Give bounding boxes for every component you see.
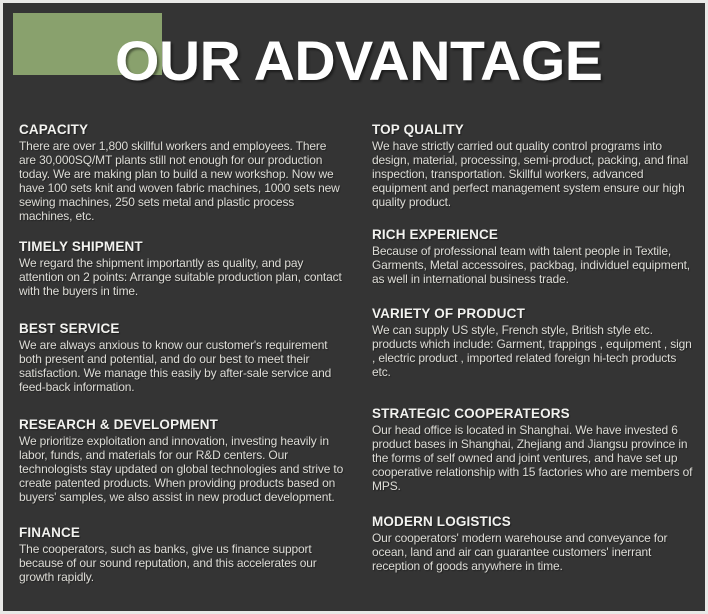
- section-body-research-development: We prioritize exploitation and innovatio…: [19, 434, 346, 504]
- section-body-strategic-cooperateors: Our head office is located in Shanghai. …: [372, 423, 697, 493]
- section-title-top-quality: TOP QUALITY: [372, 121, 697, 138]
- section-rich-experience: RICH EXPERIENCE Because of professional …: [372, 226, 697, 286]
- section-body-capacity: There are over 1,800 skillful workers an…: [19, 139, 346, 223]
- section-title-rich-experience: RICH EXPERIENCE: [372, 226, 697, 243]
- section-title-variety-of-product: VARIETY OF PRODUCT: [372, 305, 697, 322]
- section-variety-of-product: VARIETY OF PRODUCT We can supply US styl…: [372, 305, 697, 379]
- section-body-best-service: We are always anxious to know our custom…: [19, 338, 346, 394]
- advantage-poster: OUR ADVANTAGE CAPACITY There are over 1,…: [0, 0, 708, 614]
- section-capacity: CAPACITY There are over 1,800 skillful w…: [19, 121, 346, 223]
- section-body-modern-logistics: Our cooperators' modern warehouse and co…: [372, 531, 697, 573]
- section-body-rich-experience: Because of professional team with talent…: [372, 244, 697, 286]
- right-column: TOP QUALITY We have strictly carried out…: [354, 121, 705, 611]
- section-best-service: BEST SERVICE We are always anxious to kn…: [19, 320, 346, 394]
- content-columns: CAPACITY There are over 1,800 skillful w…: [3, 121, 705, 611]
- section-title-research-development: RESEARCH & DEVELOPMENT: [19, 416, 346, 433]
- section-top-quality: TOP QUALITY We have strictly carried out…: [372, 121, 697, 209]
- section-title-capacity: CAPACITY: [19, 121, 346, 138]
- section-title-timely-shipment: TIMELY SHIPMENT: [19, 238, 346, 255]
- section-body-top-quality: We have strictly carried out quality con…: [372, 139, 697, 209]
- section-research-development: RESEARCH & DEVELOPMENT We prioritize exp…: [19, 416, 346, 504]
- section-title-finance: FINANCE: [19, 524, 346, 541]
- section-title-modern-logistics: MODERN LOGISTICS: [372, 513, 697, 530]
- section-body-finance: The cooperators, such as banks, give us …: [19, 542, 346, 584]
- section-body-timely-shipment: We regard the shipment importantly as qu…: [19, 256, 346, 298]
- left-column: CAPACITY There are over 1,800 skillful w…: [3, 121, 354, 611]
- section-title-best-service: BEST SERVICE: [19, 320, 346, 337]
- poster-header: OUR ADVANTAGE: [3, 3, 705, 121]
- section-finance: FINANCE The cooperators, such as banks, …: [19, 524, 346, 584]
- section-strategic-cooperateors: STRATEGIC COOPERATEORS Our head office i…: [372, 405, 697, 493]
- section-modern-logistics: MODERN LOGISTICS Our cooperators' modern…: [372, 513, 697, 573]
- section-body-variety-of-product: We can supply US style, French style, Br…: [372, 323, 697, 379]
- page-title: OUR ADVANTAGE: [115, 33, 602, 89]
- section-timely-shipment: TIMELY SHIPMENT We regard the shipment i…: [19, 238, 346, 298]
- section-title-strategic-cooperateors: STRATEGIC COOPERATEORS: [372, 405, 697, 422]
